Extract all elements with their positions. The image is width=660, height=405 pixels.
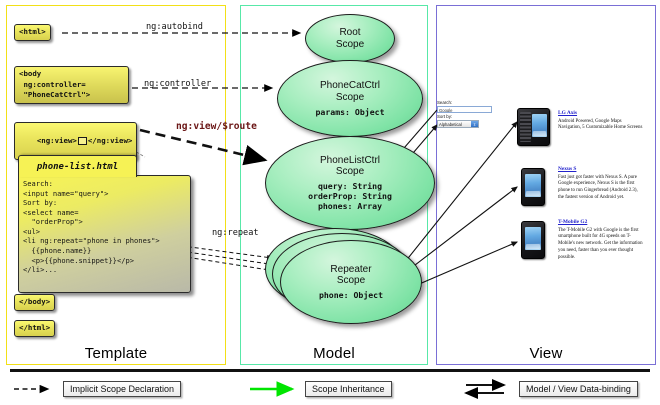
scope-repeater-title-line2: Scope [337,275,365,286]
body-close-tag: </body> [14,294,55,311]
phone-thumbnail-nexus-s [521,168,545,206]
ng-view-tag: <ng:view></ng:view> [14,122,137,160]
legend-divider [10,369,650,372]
scope-phonecatctrl-title-line1: PhoneCatCtrl [320,80,380,91]
phone-screen [525,174,541,197]
column-label-view: View [437,345,655,362]
search-label: Search: [437,100,495,106]
connector-label-ng-view-route: ng:view/$route [176,121,257,132]
legend-label-databinding: Model / View Data-binding [519,381,638,397]
phone-info: Nexus S Fast just got faster with Nexus … [558,166,644,202]
html-open-tag: <html> [14,24,51,41]
scope-repeater-props: phone: Object [319,290,383,300]
phone-info: LG Axis Android Powered, Google Maps Nav… [558,110,644,132]
legend-label-inheritance: Scope Inheritance [305,381,392,397]
phone-thumbnail-t-mobile-g2 [521,221,545,259]
sort-by-value: Alphabetical [439,122,462,127]
connector-label-ng-repeat: ng:repeat [212,228,259,238]
connector-label-ng-autobind: ng:autobind [146,22,203,32]
scope-root-title-line2: Scope [336,39,364,50]
callout-code: Search: <input name="query"> Sort by: <s… [18,175,191,293]
search-form: Search: Google Sort by: Alphabetical ⇳ [437,100,495,128]
phone-name-link[interactable]: Nexus S [558,166,644,172]
phone-snippet: Fast just got faster with Nexus S. A pur… [558,175,644,203]
sort-by-select[interactable]: Alphabetical ⇳ [437,120,479,128]
scope-root-title-line1: Root [339,27,360,38]
phone-info: T-Mobile G2 The T-Mobile G2 with Google … [558,219,644,262]
phone-list-callout: phone-list.html Search: <input name="que… [18,155,193,295]
legend-item-implicit-scope-declaration: Implicit Scope Declaration [14,381,181,397]
diagram-canvas: Template Model View [0,0,660,405]
phone-snippet: The T-Mobile G2 with Google is the first… [558,228,644,263]
scope-root: Root Scope [305,14,395,63]
scope-phonecatctrl: PhoneCatCtrl Scope params: Object [277,60,423,137]
scope-phonelistctrl-props: query: String orderProp: String phones: … [308,181,392,211]
ng-view-close-label: </ng:view> [88,136,133,145]
scope-phonelistctrl-title-line1: PhoneListCtrl [320,155,380,166]
ng-view-placeholder-icon [78,137,87,145]
ng-view-open-label: <ng:view> [37,136,77,145]
body-tag: <body ng:controller= "PhoneCatCtrl"> [14,66,129,104]
phone-screen [525,227,541,250]
scope-phonecatctrl-title-line2: Scope [336,92,364,103]
phone-screen [532,114,547,137]
html-close-tag: </html> [14,320,55,337]
phone-name-link[interactable]: LG Axis [558,110,644,116]
search-input[interactable]: Google [437,106,492,113]
scope-phonecatctrl-props: params: Object [315,107,384,117]
phone-thumbnail-lg-axis [517,108,550,146]
keyboard-icon [520,112,531,142]
scope-repeater: Repeater Scope phone: Object [280,240,422,324]
callout-filename: phone-list.html [18,155,137,177]
column-label-template: Template [7,345,225,362]
scope-phonelistctrl: PhoneListCtrl Scope query: String orderP… [265,136,435,230]
sort-by-label: Sort by: [437,114,495,120]
scope-repeater-title-line1: Repeater [330,264,371,275]
scope-phonelistctrl-title-line2: Scope [336,166,364,177]
column-label-model: Model [241,345,427,362]
phone-name-link[interactable]: T-Mobile G2 [558,219,644,225]
chevron-updown-icon: ⇳ [471,121,478,127]
legend-label-implicit: Implicit Scope Declaration [63,381,181,397]
legend-item-model-view-data-binding: Model / View Data-binding [466,381,638,397]
connector-label-ng-controller: ng:controller [144,79,211,89]
phone-snippet: Android Powered, Google Maps Navigation,… [558,119,644,133]
legend-item-scope-inheritance: Scope Inheritance [250,381,392,397]
